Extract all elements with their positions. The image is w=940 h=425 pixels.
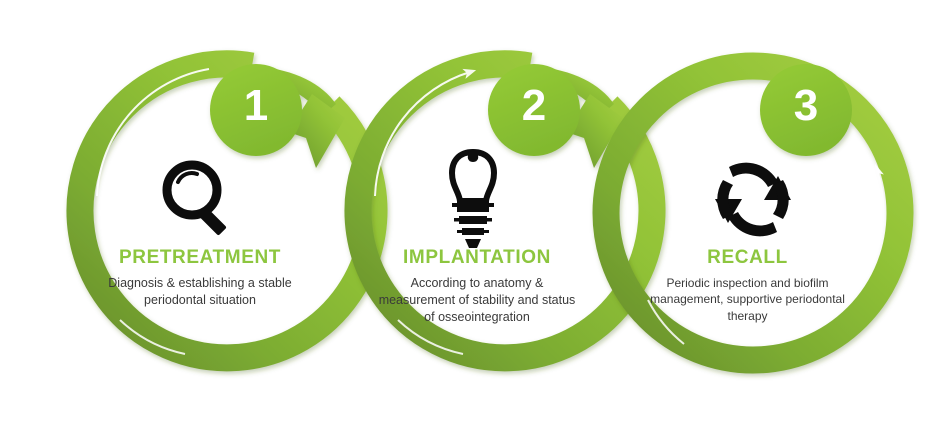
magnifier-icon <box>167 165 227 236</box>
rings-layer <box>0 0 940 425</box>
step-ring-1 <box>80 64 374 358</box>
dental-implant-icon <box>452 152 494 248</box>
step-badge-2 <box>488 64 580 156</box>
step-badge-1 <box>210 64 302 156</box>
step-badge-3 <box>760 64 852 156</box>
recycle-refresh-icon <box>715 163 791 237</box>
infographic-canvas: 1 2 3 PRETREATMENT Diagnosis & establish… <box>0 0 940 425</box>
